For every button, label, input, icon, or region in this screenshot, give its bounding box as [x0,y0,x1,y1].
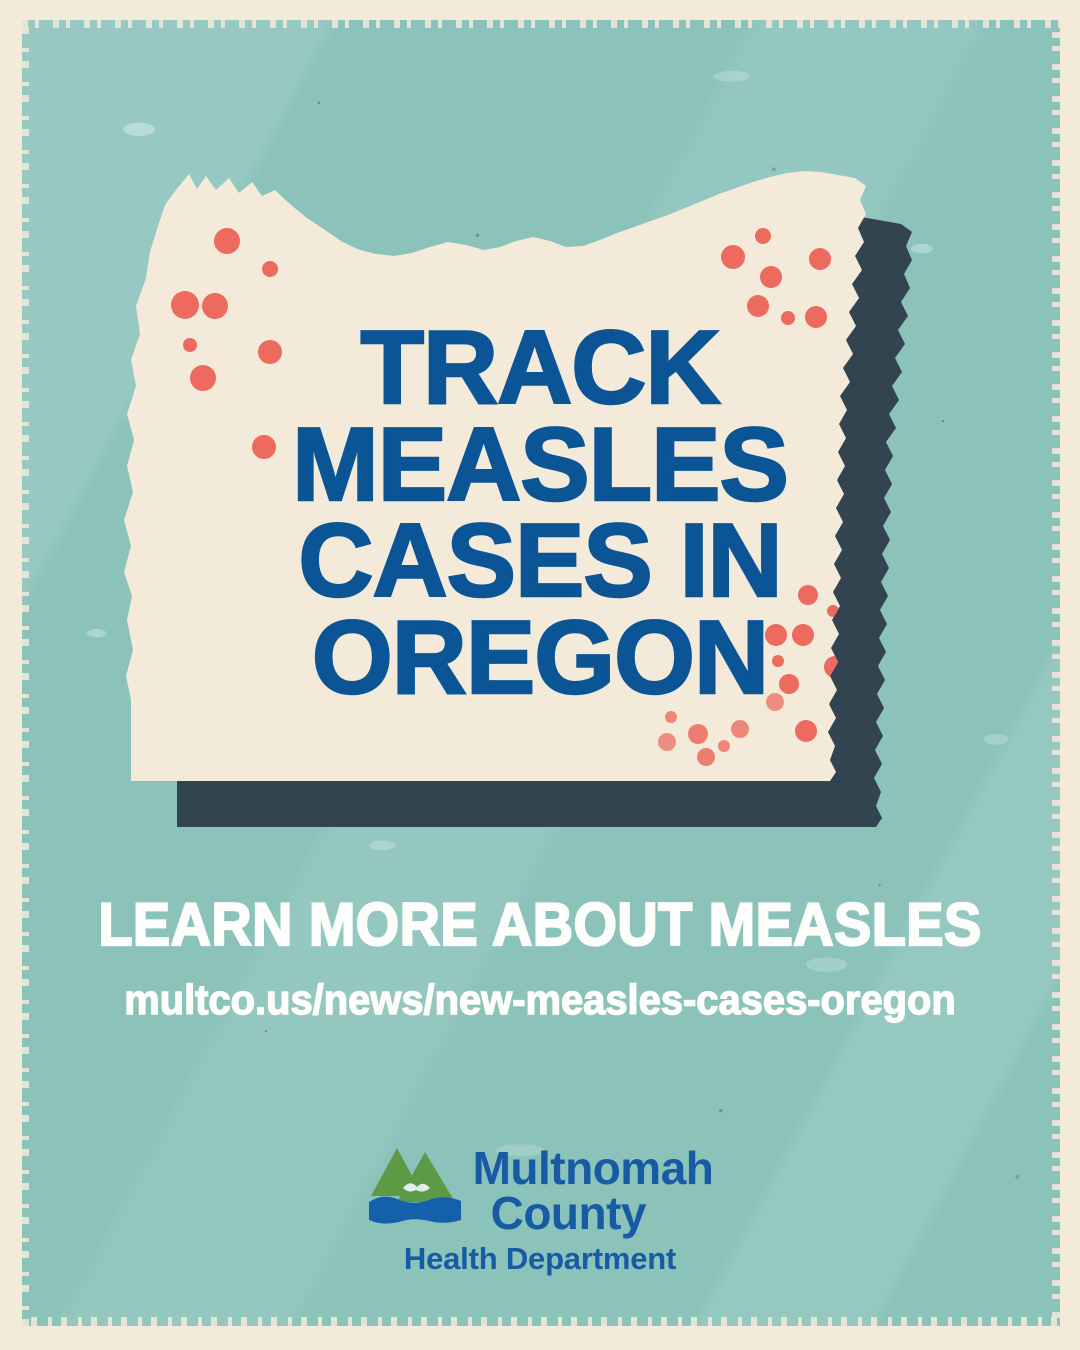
headline-line-2: MEASLES [0,417,1080,514]
headline-line-1: TRACK [0,320,1080,417]
cta-heading: LEARN MORE ABOUT MEASLES [38,895,1042,955]
logo-org-line-2: County [473,1191,714,1236]
logo-lockup: Multnomah County [367,1140,714,1235]
multnomah-county-health-department-logo: Multnomah County Health Department [0,1140,1080,1277]
background-edge-top [22,20,1060,28]
background-edge-bottom [22,1317,1060,1326]
page-title: TRACK MEASLES CASES IN OREGON [0,320,1080,707]
mountains-water-icon [367,1140,463,1228]
headline-line-3: CASES IN [0,513,1080,610]
logo-department-label: Health Department [404,1241,676,1277]
measles-awareness-poster: TRACK MEASLES CASES IN OREGON LEARN MORE… [0,0,1080,1350]
cta-url-link[interactable]: multco.us/news/new-measles-cases-oregon [27,979,1053,1021]
headline-line-4: OREGON [0,610,1080,707]
logo-wordmark: Multnomah County [473,1140,714,1235]
call-to-action: LEARN MORE ABOUT MEASLES multco.us/news/… [0,895,1080,1021]
logo-org-line-1: Multnomah [473,1146,714,1191]
